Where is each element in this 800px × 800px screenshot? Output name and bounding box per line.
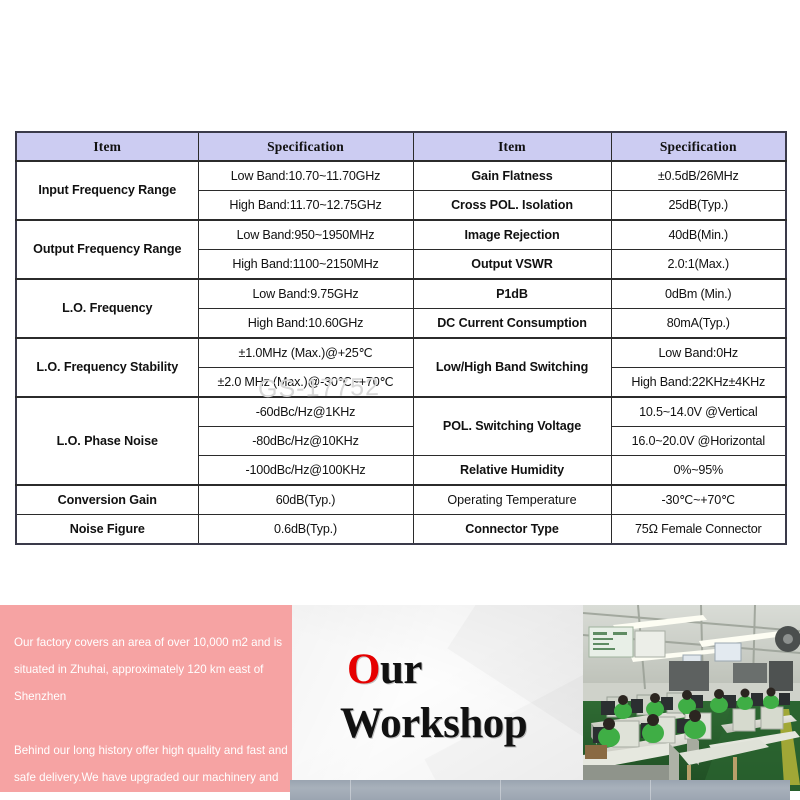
row-label-gain-flatness: Gain Flatness xyxy=(413,161,611,191)
headline-line2: Workshop xyxy=(340,697,527,751)
row-value: Low Band:0Hz xyxy=(611,338,786,368)
table-row: L.O. Frequency Stability ±1.0MHz (Max.)@… xyxy=(16,338,786,368)
table-row: Input Frequency Range Low Band:10.70~11.… xyxy=(16,161,786,191)
row-label-output-vswr: Output VSWR xyxy=(413,250,611,280)
table-header-row: Item Specification Item Specification xyxy=(16,132,786,161)
row-value: 10.5~14.0V @Vertical xyxy=(611,397,786,427)
specification-table: Item Specification Item Specification In… xyxy=(15,131,787,545)
row-label-lo-frequency-stability: L.O. Frequency Stability xyxy=(16,338,198,397)
banner-paragraph-2: Behind our long history offer high quali… xyxy=(14,737,302,800)
row-label-conversion-gain: Conversion Gain xyxy=(16,485,198,515)
row-value: ±1.0MHz (Max.)@+25℃ xyxy=(198,338,413,368)
specification-table-container: Item Specification Item Specification In… xyxy=(15,131,785,545)
banner-text-panel: Our factory covers an area of over 10,00… xyxy=(0,605,292,792)
column-header-item-right: Item xyxy=(413,132,611,161)
row-value: ±0.5dB/26MHz xyxy=(611,161,786,191)
row-value: 80mA(Typ.) xyxy=(611,309,786,339)
column-header-item-left: Item xyxy=(16,132,198,161)
column-header-spec-left: Specification xyxy=(198,132,413,161)
row-label-low-high-band-switching: Low/High Band Switching xyxy=(413,338,611,397)
table-row: Noise Figure 0.6dB(Typ.) Connector Type … xyxy=(16,515,786,545)
row-label-cross-pol-isolation: Cross POL. Isolation xyxy=(413,191,611,221)
table-row: L.O. Phase Noise -60dBc/Hz@1KHz POL. Swi… xyxy=(16,397,786,427)
row-value: ±2.0 MHz (Max.)@-30℃~+70℃ xyxy=(198,368,413,398)
row-value: High Band:10.60GHz xyxy=(198,309,413,339)
row-label-lo-phase-noise: L.O. Phase Noise xyxy=(16,397,198,485)
row-value: 25dB(Typ.) xyxy=(611,191,786,221)
row-label-noise-figure: Noise Figure xyxy=(16,515,198,545)
table-row: L.O. Frequency Low Band:9.75GHz P1dB 0dB… xyxy=(16,279,786,309)
row-value: 60dB(Typ.) xyxy=(198,485,413,515)
table-row: Conversion Gain 60dB(Typ.) Operating Tem… xyxy=(16,485,786,515)
row-value: 0.6dB(Typ.) xyxy=(198,515,413,545)
row-value: -100dBc/Hz@100KHz xyxy=(198,456,413,486)
workshop-photo-illustration xyxy=(583,605,800,791)
row-value: High Band:22KHz±4KHz xyxy=(611,368,786,398)
row-value: -80dBc/Hz@10KHz xyxy=(198,427,413,456)
row-label-output-frequency-range: Output Frequency Range xyxy=(16,220,198,279)
row-label-image-rejection: Image Rejection xyxy=(413,220,611,250)
row-value: -30℃~+70℃ xyxy=(611,485,786,515)
row-value: Low Band:950~1950MHz xyxy=(198,220,413,250)
row-label-dc-current-consumption: DC Current Consumption xyxy=(413,309,611,339)
headline-initial-letter: O xyxy=(347,646,380,693)
column-header-spec-right: Specification xyxy=(611,132,786,161)
row-label-connector-type: Connector Type xyxy=(413,515,611,545)
row-label-p1db: P1dB xyxy=(413,279,611,309)
row-value: 0dBm (Min.) xyxy=(611,279,786,309)
workshop-photo xyxy=(583,605,800,791)
banner-headline: Our Workshop xyxy=(347,643,527,751)
row-value: 40dB(Min.) xyxy=(611,220,786,250)
table-row: Output Frequency Range Low Band:950~1950… xyxy=(16,220,786,250)
row-value: -60dBc/Hz@1KHz xyxy=(198,397,413,427)
row-label-lo-frequency: L.O. Frequency xyxy=(16,279,198,338)
banner-paragraph-1: Our factory covers an area of over 10,00… xyxy=(14,629,302,710)
floor-strip xyxy=(290,780,790,800)
row-label-input-frequency-range: Input Frequency Range xyxy=(16,161,198,220)
row-value: 2.0:1(Max.) xyxy=(611,250,786,280)
banner-headline-panel: Our Workshop xyxy=(292,605,584,780)
headline-line1-rest: ur xyxy=(380,646,422,693)
banner-paragraphs: Our factory covers an area of over 10,00… xyxy=(14,629,302,800)
row-value: 16.0~20.0V @Horizontal xyxy=(611,427,786,456)
row-label-operating-temperature: Operating Temperature xyxy=(413,485,611,515)
row-value: 75Ω Female Connector xyxy=(611,515,786,545)
row-label-relative-humidity: Relative Humidity xyxy=(413,456,611,486)
row-value: High Band:11.70~12.75GHz xyxy=(198,191,413,221)
row-value: Low Band:10.70~11.70GHz xyxy=(198,161,413,191)
row-value: 0%~95% xyxy=(611,456,786,486)
row-label-pol-switching-voltage: POL. Switching Voltage xyxy=(413,397,611,456)
row-value: Low Band:9.75GHz xyxy=(198,279,413,309)
workshop-banner: Our factory covers an area of over 10,00… xyxy=(0,605,800,800)
row-value: High Band:1100~2150MHz xyxy=(198,250,413,280)
